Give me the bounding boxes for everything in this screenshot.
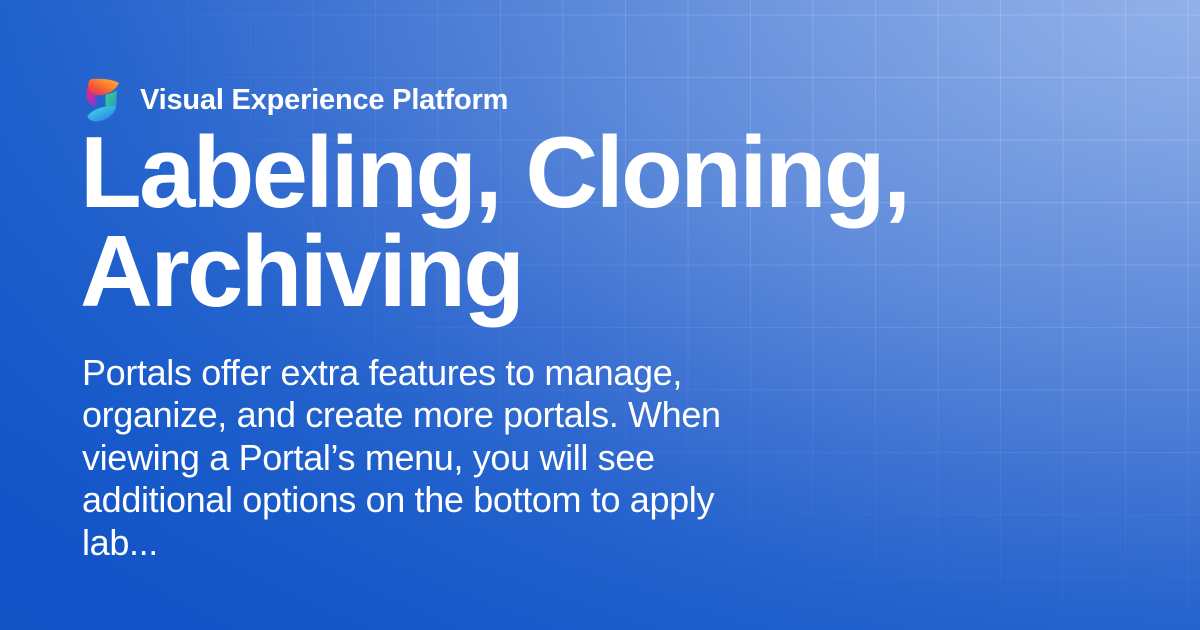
card-content: Visual Experience Platform Labeling, Clo… — [80, 0, 960, 630]
brand-name: Visual Experience Platform — [140, 86, 508, 115]
page-description: Portals offer extra features to manage, … — [82, 352, 798, 564]
open-graph-card: Visual Experience Platform Labeling, Clo… — [0, 0, 1200, 630]
page-title: Labeling, Cloning, Archiving — [80, 124, 960, 322]
